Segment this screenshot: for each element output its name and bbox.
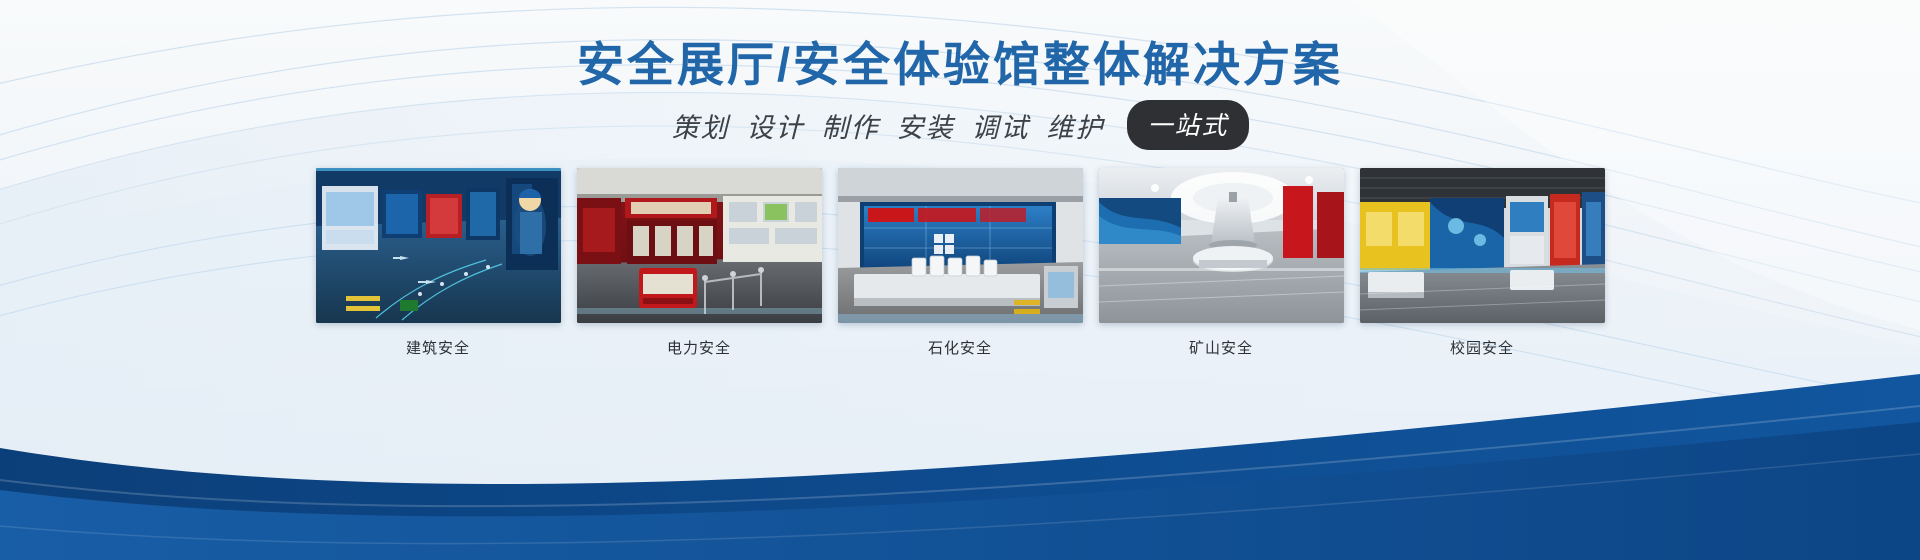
- subtitle-row: 策划 设计 制作 安装 调试 维护 一站式: [0, 100, 1920, 150]
- construction-hall-illustration: [316, 168, 561, 323]
- subtitle-word-production: 制作: [821, 106, 879, 145]
- card-caption: 矿山安全: [1189, 337, 1253, 358]
- card-caption: 校园安全: [1450, 337, 1514, 358]
- showcase-card-campus[interactable]: 校园安全: [1360, 168, 1605, 358]
- subtitle-word-install: 安装: [896, 106, 954, 145]
- thumbnail-construction[interactable]: [316, 168, 561, 323]
- thumbnail-mining[interactable]: [1099, 168, 1344, 323]
- showcase-card-power[interactable]: 电力安全: [577, 168, 822, 358]
- card-caption: 电力安全: [667, 337, 731, 358]
- campus-hall-illustration: [1360, 168, 1605, 323]
- thumbnail-campus[interactable]: [1360, 168, 1605, 323]
- card-caption: 石化安全: [928, 337, 992, 358]
- one-stop-badge: 一站式: [1127, 100, 1248, 150]
- promo-banner: 安全展厅/安全体验馆整体解决方案 策划 设计 制作 安装 调试 维护 一站式: [0, 0, 1920, 560]
- subtitle-word-planning: 策划: [671, 106, 729, 145]
- subtitle-word-design: 设计: [746, 106, 804, 145]
- subtitle-word-maintain: 维护: [1046, 106, 1104, 145]
- page-title: 安全展厅/安全体验馆整体解决方案: [0, 26, 1920, 95]
- power-hall-illustration: [577, 168, 822, 323]
- thumbnail-petrochemical[interactable]: [838, 168, 1083, 323]
- showcase-card-petrochemical[interactable]: 石化安全: [838, 168, 1083, 358]
- showcase-card-list: 建筑安全: [0, 168, 1920, 358]
- showcase-card-mining[interactable]: 矿山安全: [1099, 168, 1344, 358]
- showcase-card-construction[interactable]: 建筑安全: [316, 168, 561, 358]
- subtitle-word-debug: 调试: [971, 106, 1029, 145]
- mining-hall-illustration: [1099, 168, 1344, 323]
- card-caption: 建筑安全: [406, 337, 470, 358]
- petrochemical-hall-illustration: [838, 168, 1083, 323]
- thumbnail-power[interactable]: [577, 168, 822, 323]
